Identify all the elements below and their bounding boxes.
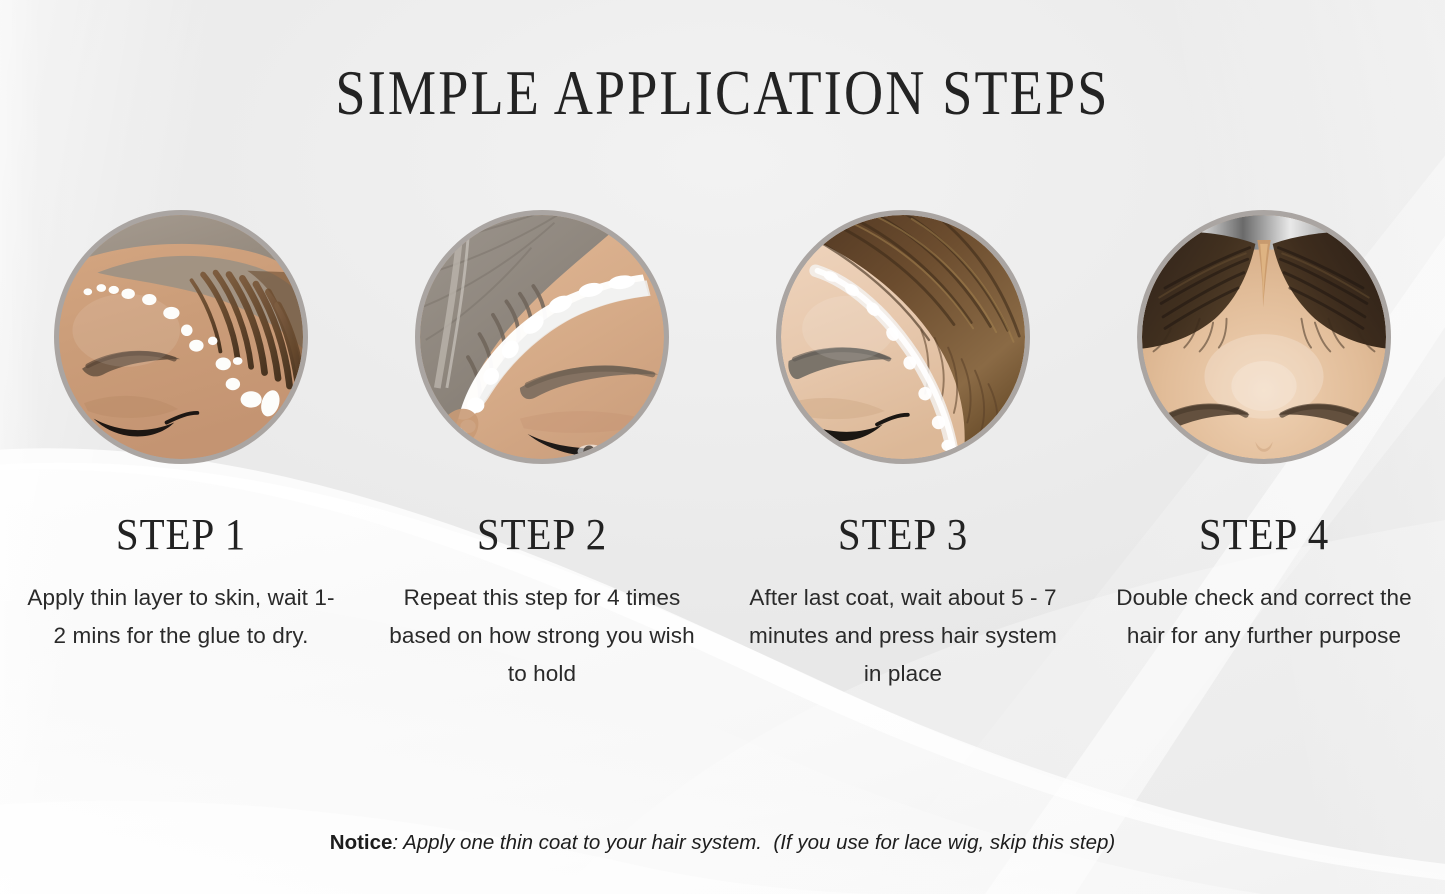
step-3-description: After last coat, wait about 5 - 7 minute…	[748, 579, 1058, 693]
step-card-3: STEP 3 After last coat, wait about 5 - 7…	[723, 210, 1084, 693]
step-4-title: STEP 4	[1199, 513, 1329, 557]
notice-body: Apply one thin coat to your hair system.	[403, 831, 762, 854]
steps-row: STEP 1 Apply thin layer to skin, wait 1-…	[0, 210, 1445, 693]
step-4-photo-ring	[1137, 210, 1391, 464]
step-1-photo-ring	[54, 210, 308, 464]
step-1-photo	[59, 215, 303, 459]
step-card-4: STEP 4 Double check and correct the hair…	[1084, 210, 1445, 655]
step-3-title: STEP 3	[838, 513, 968, 557]
step-4-photo	[1142, 215, 1386, 459]
step-4-description: Double check and correct the hair for an…	[1109, 579, 1419, 655]
step-card-2: STEP 2 Repeat this step for 4 times base…	[362, 210, 723, 693]
notice-separator: :	[392, 831, 403, 854]
step-2-photo	[420, 215, 664, 459]
step-2-title: STEP 2	[477, 513, 607, 557]
step-3-photo	[781, 215, 1025, 459]
notice-parenthetical: (If you use for lace wig, skip this step…	[773, 831, 1115, 854]
poster-canvas: SIMPLE APPLICATION STEPS	[0, 0, 1445, 894]
step-2-description: Repeat this step for 4 times based on ho…	[387, 579, 697, 693]
step-2-photo-ring	[415, 210, 669, 464]
step-card-1: STEP 1 Apply thin layer to skin, wait 1-…	[1, 210, 362, 655]
step-1-description: Apply thin layer to skin, wait 1-2 mins …	[26, 579, 336, 655]
notice-line: Notice: Apply one thin coat to your hair…	[0, 831, 1445, 855]
step-1-title: STEP 1	[116, 513, 246, 557]
page-title: SIMPLE APPLICATION STEPS	[101, 62, 1344, 125]
step-3-photo-ring	[776, 210, 1030, 464]
notice-lead: Notice	[330, 831, 393, 854]
